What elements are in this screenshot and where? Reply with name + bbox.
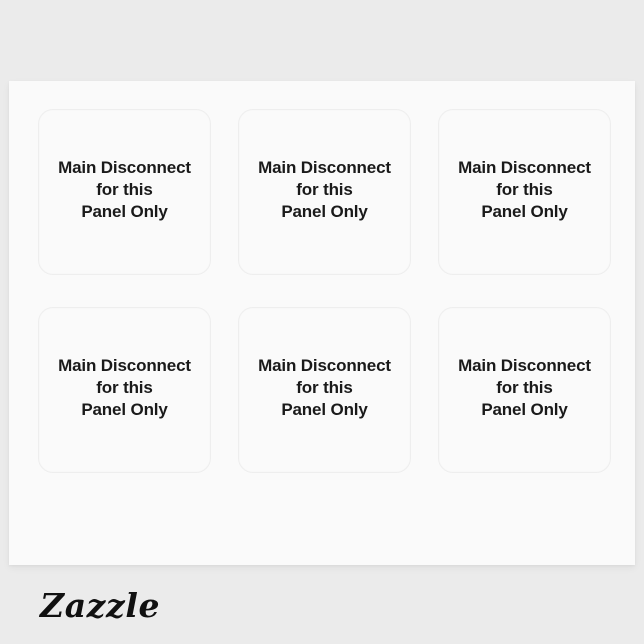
label-grid: Main Disconnect for this Panel Only Main… xyxy=(38,109,611,473)
label-card[interactable]: Main Disconnect for this Panel Only xyxy=(238,109,411,275)
label-card[interactable]: Main Disconnect for this Panel Only xyxy=(38,109,211,275)
label-text: Main Disconnect for this Panel Only xyxy=(39,355,210,421)
label-card[interactable]: Main Disconnect for this Panel Only xyxy=(438,307,611,473)
label-card[interactable]: Main Disconnect for this Panel Only xyxy=(238,307,411,473)
label-card[interactable]: Main Disconnect for this Panel Only xyxy=(38,307,211,473)
zazzle-brand-logo: Zazzle xyxy=(40,586,160,626)
label-text: Main Disconnect for this Panel Only xyxy=(39,157,210,223)
screenshot-stage: Main Disconnect for this Panel Only Main… xyxy=(0,0,644,644)
label-text: Main Disconnect for this Panel Only xyxy=(239,157,410,223)
label-card[interactable]: Main Disconnect for this Panel Only xyxy=(438,109,611,275)
label-text: Main Disconnect for this Panel Only xyxy=(239,355,410,421)
sticker-sheet: Main Disconnect for this Panel Only Main… xyxy=(9,81,635,565)
label-text: Main Disconnect for this Panel Only xyxy=(439,157,610,223)
label-text: Main Disconnect for this Panel Only xyxy=(439,355,610,421)
